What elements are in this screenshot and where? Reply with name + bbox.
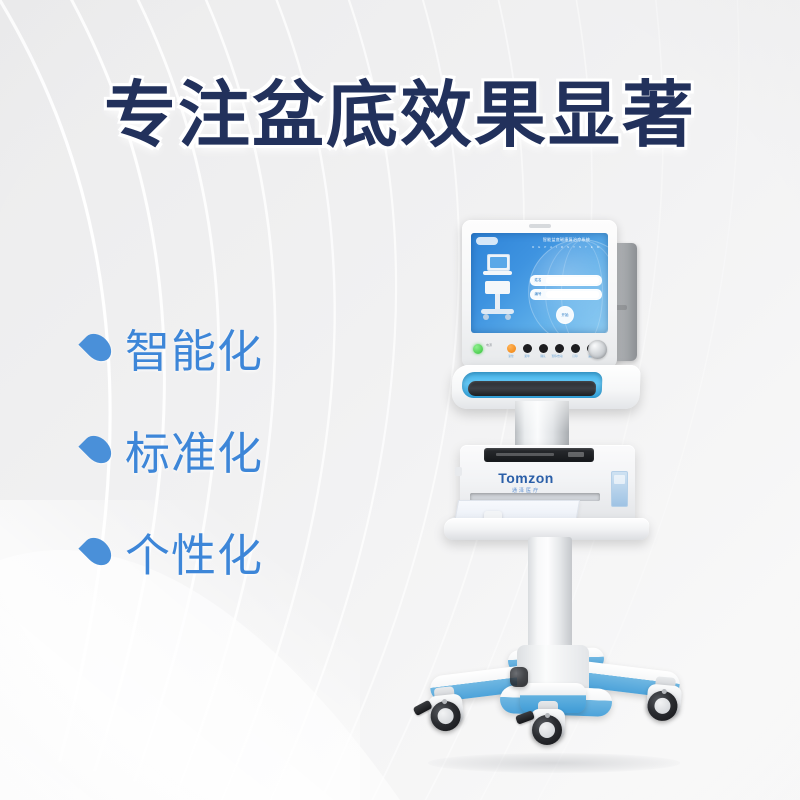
control-button-print[interactable] [571, 344, 580, 353]
control-button-reset[interactable] [507, 344, 516, 353]
control-panel: 电源 复位 菜单 确认 暂停/启动 打印 返回 [471, 338, 608, 361]
feature-label: 标准化 [125, 417, 263, 482]
monitor-screen[interactable]: 智能盆底磁康复治疗系统 R E P A I R S Y S T E M 姓名 [471, 233, 608, 333]
medical-trolley-product: 智能盆底磁康复治疗系统 R E P A I R S Y S T E M 姓名 [400, 205, 730, 785]
keyboard-recess [462, 372, 603, 398]
screen-start-button[interactable]: 开始 [556, 306, 574, 324]
control-button-menu[interactable] [523, 344, 532, 353]
poster-canvas: 专注盆底效果显著 智能化 标准化 个性化 智能盆底磁康复治疗系统 R E P A… [0, 0, 800, 800]
rotary-knob[interactable] [588, 340, 607, 359]
screen-title: 智能盆底磁康复治疗系统 [529, 237, 604, 243]
keyboard[interactable] [468, 381, 597, 396]
control-button-print-label: 打印 [568, 354, 582, 358]
control-button-menu-label: 菜单 [520, 354, 534, 358]
trolley-illustration-icon [480, 254, 514, 322]
feature-label: 智能化 [125, 315, 263, 380]
screen-name-field-label: 姓名 [531, 277, 545, 284]
printer-top-panel [484, 448, 594, 462]
control-button-pause-start[interactable] [555, 344, 564, 353]
printer-side-tab [455, 467, 462, 476]
list-item: 智能化 [86, 318, 263, 376]
caster-wheel-right [642, 675, 686, 724]
control-button-confirm[interactable] [539, 344, 548, 353]
power-led-icon [473, 344, 483, 354]
monitor-notch [529, 224, 551, 228]
feature-label: 个性化 [125, 519, 263, 584]
screen-name-field[interactable]: 姓名 [530, 275, 602, 286]
printer-brand-logo: Tomzon 通泽医疗 [490, 471, 562, 494]
feature-list: 智能化 标准化 个性化 [86, 318, 263, 624]
power-label: 电源 [486, 343, 492, 348]
screen-id-field[interactable]: 编号 [530, 289, 602, 300]
printer-side-label [611, 471, 628, 507]
caster-wheel-front [528, 701, 568, 747]
brand-logo-icon [476, 237, 498, 245]
floor-shadow [428, 753, 680, 773]
control-button-reset-label: 复位 [504, 354, 518, 358]
screen-subtitle: R E P A I R S Y S T E M [529, 245, 604, 249]
printer-brand-name: Tomzon [490, 471, 562, 485]
cart-base [412, 643, 692, 723]
page-title: 专注盆底效果显著 [0, 56, 800, 161]
printer-unit: Tomzon 通泽医疗 [460, 445, 635, 525]
list-item: 个性化 [86, 522, 263, 580]
screen-id-field-label: 编号 [531, 291, 545, 298]
list-item: 标准化 [86, 420, 263, 478]
control-button-confirm-label: 确认 [536, 354, 550, 358]
monitor-unit: 智能盆底磁康复治疗系统 R E P A I R S Y S T E M 姓名 [462, 220, 617, 368]
control-button-pause-start-label: 暂停/启动 [550, 354, 564, 358]
caster-wheel-left [424, 685, 469, 735]
caster-wheel-rear [508, 661, 534, 691]
